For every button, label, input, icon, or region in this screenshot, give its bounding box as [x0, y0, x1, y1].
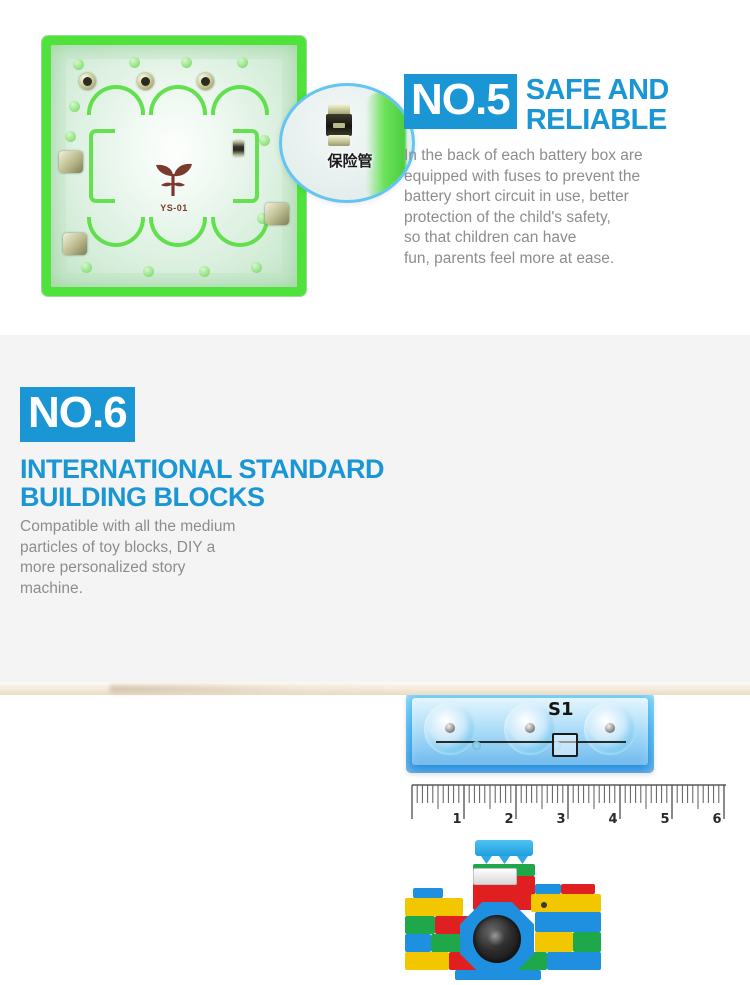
section6-body-text: Compatible with all the medium particles…	[20, 517, 290, 599]
product-image-battery-box: YS-01 保险管	[42, 36, 306, 296]
metal-clip	[265, 203, 289, 225]
camera-brick	[535, 932, 573, 952]
block-terminal-ring	[424, 703, 476, 755]
rim-stud	[181, 57, 192, 68]
metal-clip	[63, 233, 87, 255]
circuit-trace	[436, 741, 626, 743]
ruler-tick-label: 3	[556, 812, 565, 827]
badge-no5: NO.5	[404, 74, 517, 129]
section-safe-and-reliable: YS-01 保险管 NO.5 SAFE AND RELIABLE In the …	[0, 0, 750, 335]
camera-brick	[573, 932, 601, 952]
rim-stud	[73, 59, 84, 70]
camera-brick	[405, 916, 435, 934]
screw-contact	[137, 73, 154, 90]
camera-brick	[405, 934, 431, 952]
fuse-zoomed-icon	[326, 104, 352, 146]
screw-contact	[79, 73, 96, 90]
camera-brick	[413, 888, 443, 898]
camera-brick	[535, 884, 561, 894]
section-international-standard-blocks: NO.6 INTERNATIONAL STANDARD BUILDING BLO…	[0, 335, 750, 682]
product-image-block-camera	[395, 840, 625, 985]
camera-flash-brick	[473, 868, 517, 885]
ruler-tick-label: 6	[712, 812, 721, 827]
brick-stud	[481, 856, 492, 864]
callout-green-edge	[366, 92, 406, 200]
block-terminal-ring	[584, 703, 636, 755]
section5-headline: SAFE AND RELIABLE	[526, 74, 669, 135]
camera-brick	[535, 912, 601, 932]
rim-stud	[199, 266, 210, 277]
brick-stud	[517, 856, 528, 864]
product-model-code: YS-01	[153, 203, 195, 213]
rim-stud	[65, 131, 76, 142]
rim-stud	[143, 266, 154, 277]
ruler-tick-label: 4	[608, 812, 617, 827]
rim-stud	[69, 101, 80, 112]
product-image-blue-block-with-ruler: S1	[404, 693, 744, 833]
battery-box-frame: YS-01	[42, 36, 306, 296]
section5-body-text: In the back of each battery box are equi…	[404, 146, 704, 270]
callout-label-fuse: 保险管	[304, 150, 396, 171]
brick-stud	[499, 856, 510, 864]
centimeter-ruler: 1 2 3 4 5 6	[404, 779, 734, 831]
camera-brick	[405, 952, 449, 970]
camera-brick	[405, 898, 463, 916]
fuse-component	[233, 141, 244, 156]
teaser-blur	[110, 685, 410, 693]
metal-clip	[59, 151, 83, 173]
camera-top-brick	[475, 840, 533, 856]
section6-headline: INTERNATIONAL STANDARD BUILDING BLOCKS	[20, 456, 420, 511]
block-hole	[472, 741, 481, 750]
rim-stud	[237, 57, 248, 68]
badge-no6: NO.6	[20, 387, 135, 442]
side-bracket	[89, 129, 115, 203]
rim-stud	[129, 57, 140, 68]
rim-stud	[81, 262, 92, 273]
ruler-tick-label: 5	[660, 812, 669, 827]
brand-logo: YS-01	[153, 163, 195, 213]
blue-switch-block: S1	[406, 693, 654, 773]
magnifier-callout-fuse: 保险管	[279, 83, 415, 203]
camera-sensor-dot	[541, 902, 547, 908]
screw-contact	[197, 73, 214, 90]
section5-heading-group: NO.5 SAFE AND RELIABLE	[404, 74, 734, 135]
ruler-tick-label: 2	[504, 812, 513, 827]
block-label-s1: S1	[548, 699, 574, 720]
camera-brick	[561, 884, 595, 894]
sprout-icon	[153, 163, 195, 197]
camera-lens	[473, 915, 521, 963]
section6-heading-group: NO.6 INTERNATIONAL STANDARD BUILDING BLO…	[20, 387, 420, 511]
ruler-tick-label: 1	[452, 812, 461, 827]
next-section-teaser-strip	[0, 682, 750, 695]
rim-stud	[251, 262, 262, 273]
camera-brick	[547, 952, 601, 970]
rim-stud	[259, 135, 270, 146]
switch-symbol-icon	[552, 733, 578, 757]
